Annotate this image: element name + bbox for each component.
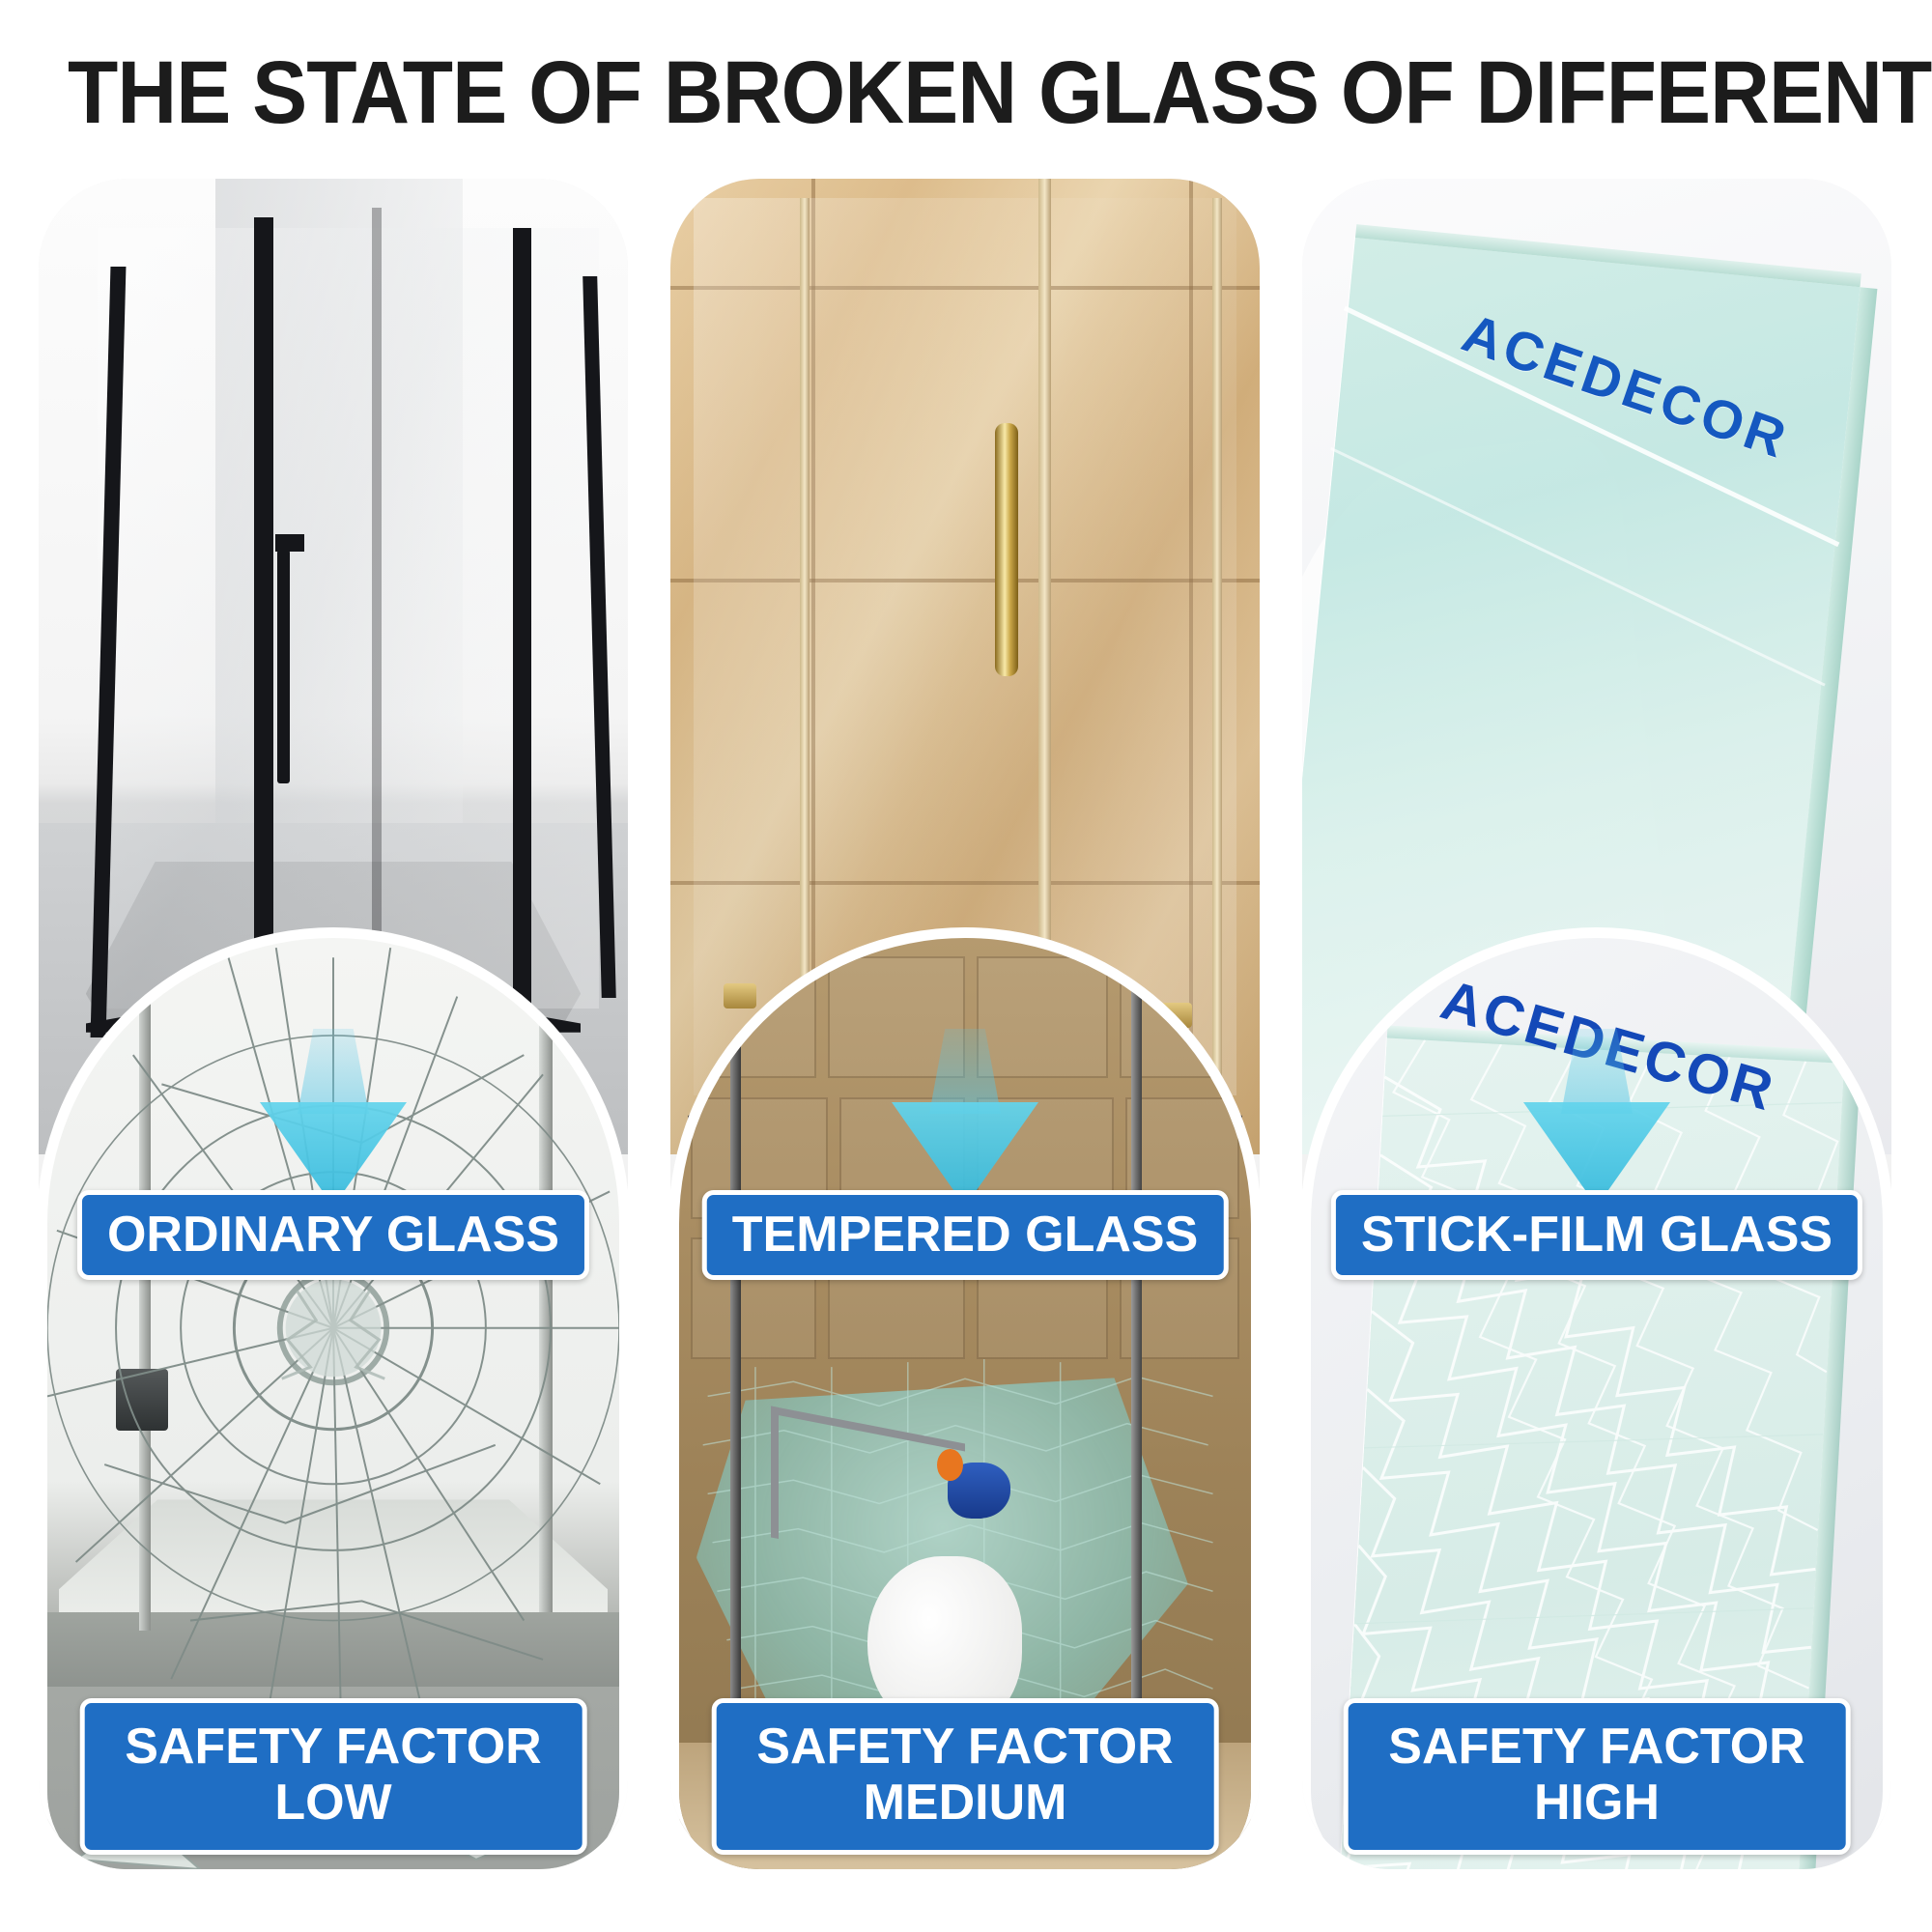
safety-factor-value: LOW [97, 1775, 571, 1831]
down-arrow-icon [888, 1029, 1042, 1212]
comparison-card-stick-film-glass: ACEDECOR [1302, 179, 1891, 1869]
safety-factor-label: SAFETY FACTOR [125, 1719, 541, 1775]
comparison-card-grid: ORDINARY GLASS SAFETY FACTOR LOW [39, 179, 1893, 1874]
comparison-card-ordinary-glass: ORDINARY GLASS SAFETY FACTOR LOW [39, 179, 628, 1869]
safety-factor-value: HIGH [1360, 1775, 1834, 1831]
safety-factor-label: SAFETY FACTOR [756, 1719, 1173, 1775]
safety-factor-value: MEDIUM [728, 1775, 1203, 1831]
safety-factor-badge: SAFETY FACTOR HIGH [1344, 1698, 1851, 1855]
safety-factor-badge: SAFETY FACTOR LOW [80, 1698, 587, 1855]
page-title: THE STATE OF BROKEN GLASS OF DIFFERENT T… [68, 46, 1864, 140]
comparison-card-tempered-glass: TEMPERED GLASS SAFETY FACTOR MEDIUM [670, 179, 1260, 1869]
glass-type-badge: STICK-FILM GLASS [1331, 1190, 1862, 1280]
safety-factor-badge: SAFETY FACTOR MEDIUM [712, 1698, 1219, 1855]
down-arrow-icon [1520, 1029, 1674, 1212]
down-arrow-icon [256, 1029, 411, 1212]
glass-type-badge: ORDINARY GLASS [77, 1190, 589, 1280]
glass-type-badge: TEMPERED GLASS [702, 1190, 1229, 1280]
safety-factor-label: SAFETY FACTOR [1388, 1719, 1804, 1775]
